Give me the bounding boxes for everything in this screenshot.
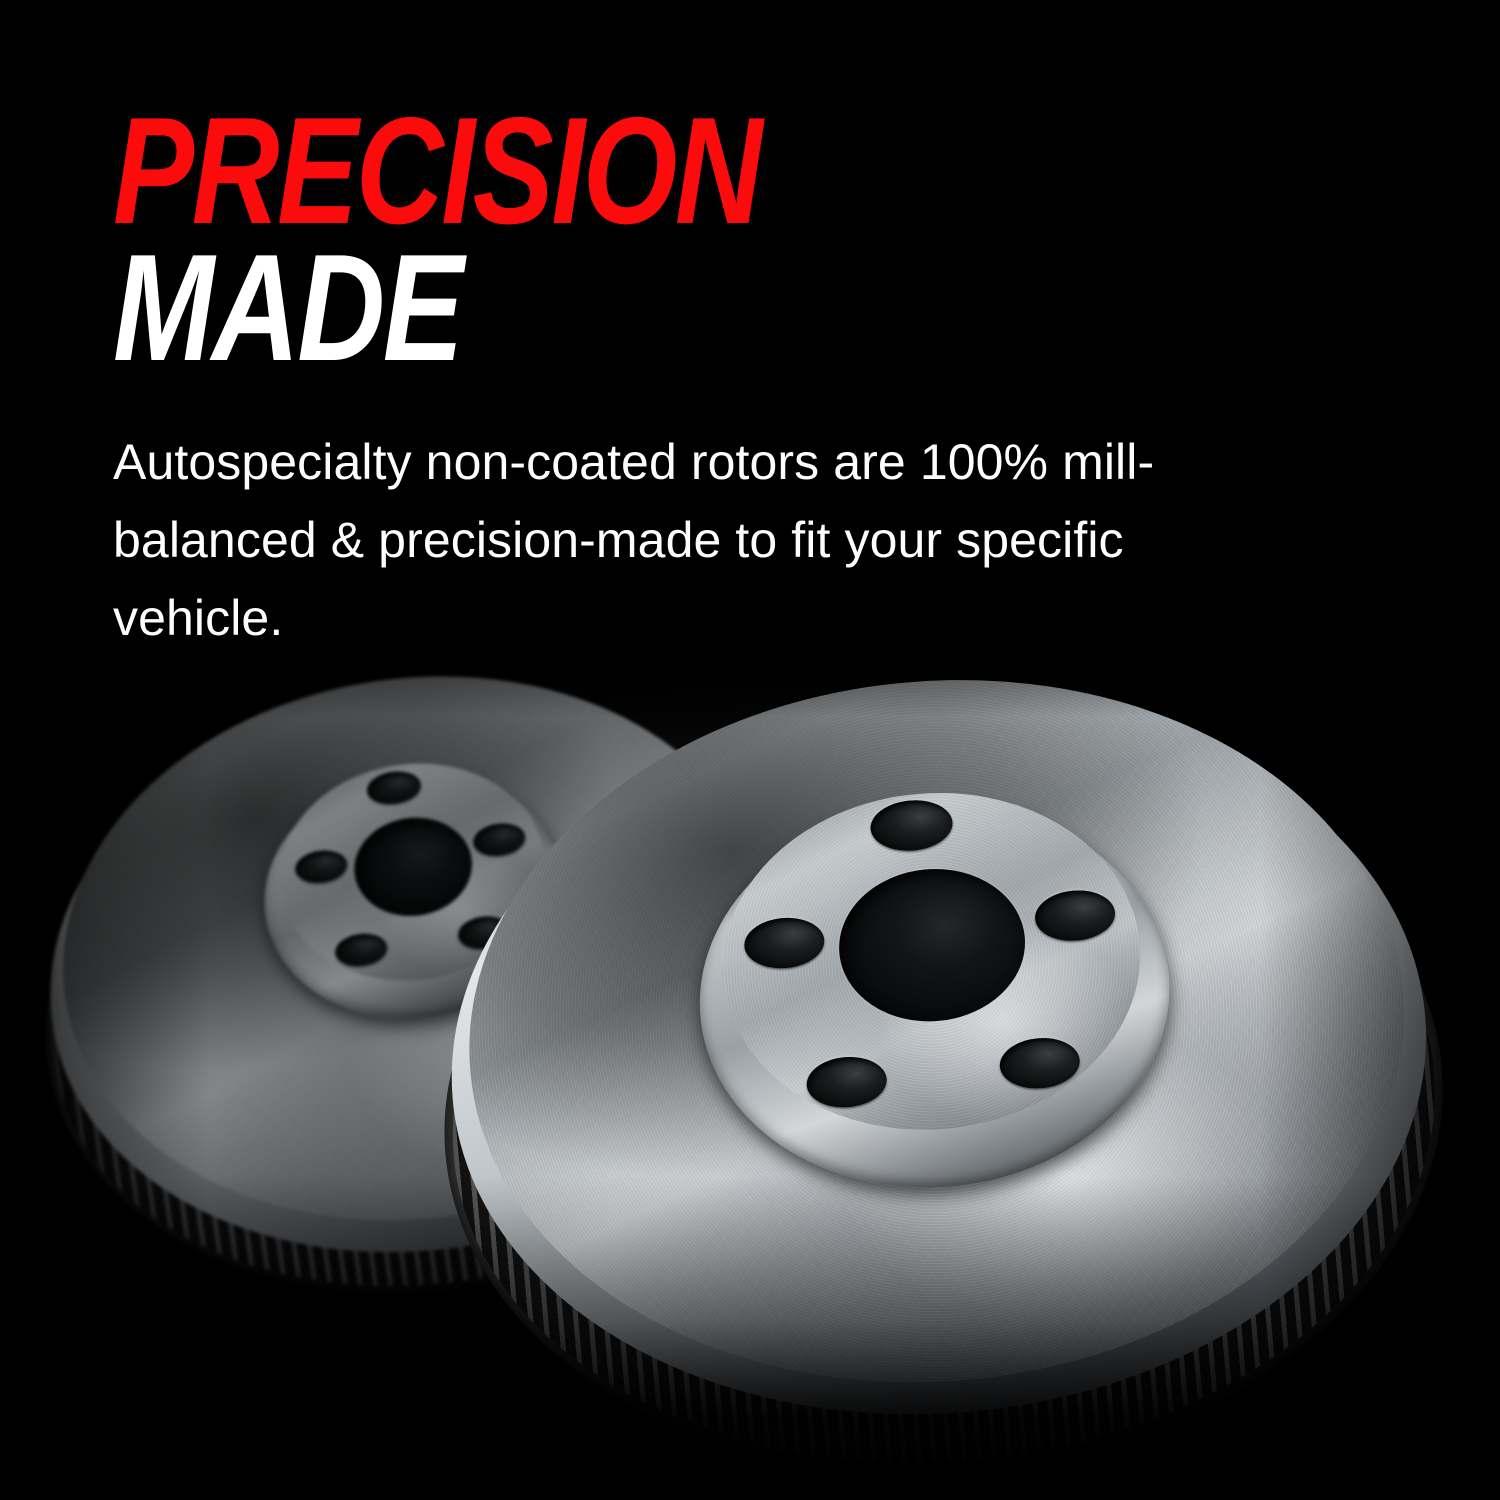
product-photo (0, 600, 1500, 1500)
promo-banner: PRECISION MADE Autospecialty non-coated … (0, 0, 1500, 1500)
page-title: PRECISION MADE (113, 106, 1333, 373)
headline-line-made: MADE (113, 243, 1089, 374)
front-rotor (406, 613, 1475, 1500)
product-description: Autospecialty non-coated rotors are 100%… (113, 423, 1278, 657)
marketing-copy: PRECISION MADE Autospecialty non-coated … (113, 106, 1333, 657)
headline-line-precision: PRECISION (113, 106, 1089, 237)
